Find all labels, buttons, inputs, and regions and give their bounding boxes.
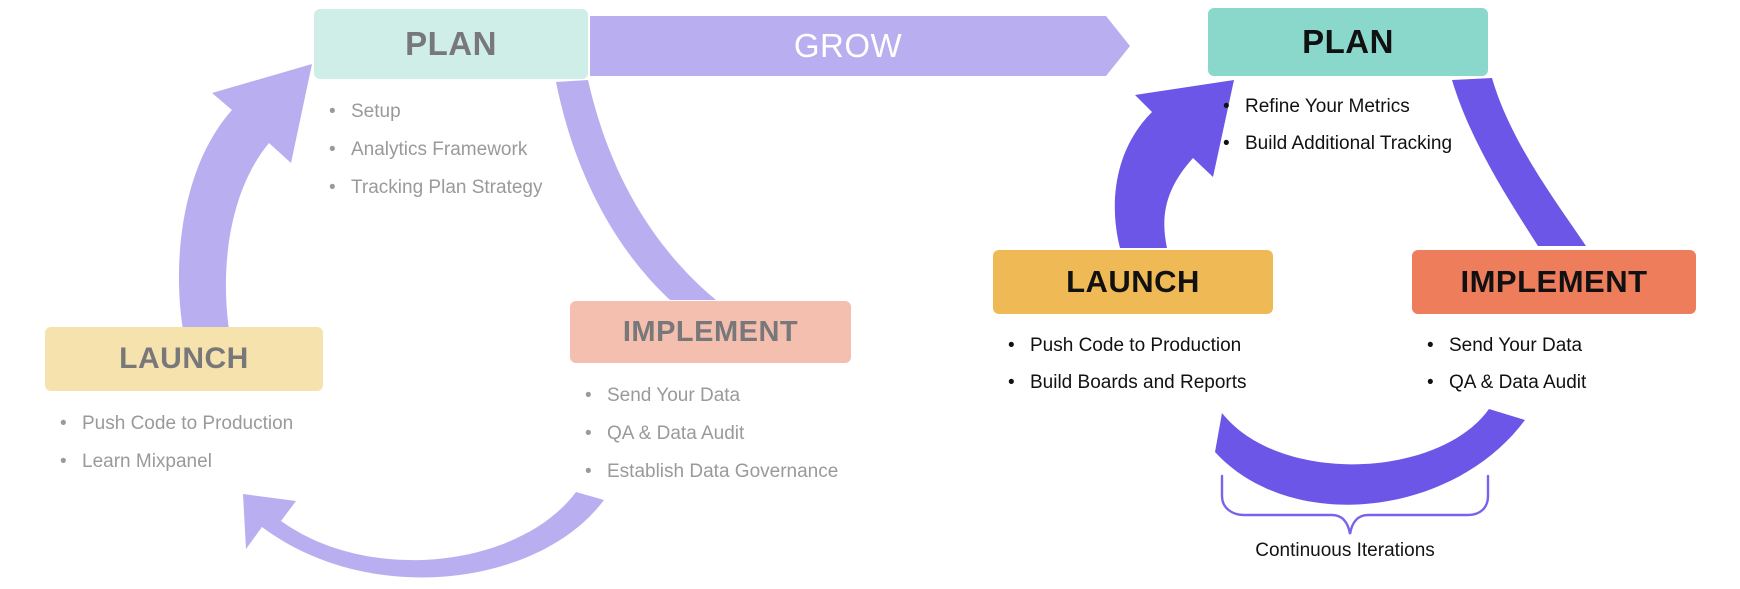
- list-item: • Tracking Plan Strategy: [329, 177, 588, 199]
- bullet-text: Send Your Data: [607, 385, 851, 407]
- list-item: • Push Code to Production: [60, 413, 323, 435]
- bullet-icon: •: [1427, 335, 1449, 357]
- bullet-text: Build Boards and Reports: [1030, 372, 1273, 394]
- bullet-text: Send Your Data: [1449, 335, 1696, 357]
- list-item: • Setup: [329, 101, 588, 123]
- bullet-icon: •: [585, 423, 607, 445]
- node-plan-left-title: PLAN: [314, 9, 588, 79]
- bullet-icon: •: [1008, 335, 1030, 357]
- list-item: • Push Code to Production: [1008, 335, 1273, 357]
- node-implement-right-title: IMPLEMENT: [1412, 250, 1696, 314]
- node-launch-right-title: LAUNCH: [993, 250, 1273, 314]
- node-launch-left-bullets: • Push Code to Production • Learn Mixpan…: [60, 413, 323, 473]
- bullet-text: QA & Data Audit: [607, 423, 851, 445]
- node-implement-left-bullets: • Send Your Data • QA & Data Audit • Est…: [585, 385, 851, 483]
- node-plan-right[interactable]: PLAN • Refine Your Metrics • Build Addit…: [1208, 8, 1488, 170]
- bullet-icon: •: [329, 177, 351, 199]
- list-item: • QA & Data Audit: [585, 423, 851, 445]
- bullet-text: QA & Data Audit: [1449, 372, 1696, 394]
- node-launch-left[interactable]: LAUNCH • Push Code to Production • Learn…: [45, 327, 323, 489]
- node-implement-right-bullets: • Send Your Data • QA & Data Audit: [1427, 335, 1696, 394]
- list-item: • QA & Data Audit: [1427, 372, 1696, 394]
- node-launch-right[interactable]: LAUNCH • Push Code to Production • Build…: [993, 250, 1273, 409]
- bullet-text: Analytics Framework: [351, 139, 588, 161]
- list-item: • Send Your Data: [585, 385, 851, 407]
- node-launch-left-title: LAUNCH: [45, 327, 323, 391]
- list-item: • Build Additional Tracking: [1223, 133, 1488, 155]
- bullet-icon: •: [329, 101, 351, 123]
- continuous-iterations-brace: [1222, 476, 1488, 534]
- arrow-launch-to-plan-left: [179, 64, 312, 330]
- bullet-icon: •: [1008, 372, 1030, 394]
- bullet-text: Tracking Plan Strategy: [351, 177, 588, 199]
- node-plan-left[interactable]: PLAN • Setup • Analytics Framework • Tra…: [314, 9, 588, 215]
- node-launch-right-bullets: • Push Code to Production • Build Boards…: [1008, 335, 1273, 394]
- node-implement-left-title: IMPLEMENT: [570, 301, 851, 363]
- bullet-icon: •: [1223, 96, 1245, 118]
- continuous-iterations-label: Continuous Iterations: [1160, 540, 1530, 562]
- bullet-text: Build Additional Tracking: [1245, 133, 1488, 155]
- list-item: • Learn Mixpanel: [60, 451, 323, 473]
- bullet-icon: •: [585, 461, 607, 483]
- diagram-canvas: GROW PLAN • Setup • Analytics Framework …: [0, 0, 1740, 589]
- grow-banner-label: GROW: [590, 16, 1106, 76]
- node-plan-right-bullets: • Refine Your Metrics • Build Additional…: [1223, 96, 1488, 155]
- bullet-text: Push Code to Production: [1030, 335, 1273, 357]
- arrow-implement-to-launch-right: [1215, 409, 1525, 505]
- list-item: • Build Boards and Reports: [1008, 372, 1273, 394]
- bullet-icon: •: [60, 413, 82, 435]
- bullet-icon: •: [60, 451, 82, 473]
- list-item: • Analytics Framework: [329, 139, 588, 161]
- bullet-icon: •: [329, 139, 351, 161]
- bullet-icon: •: [1223, 133, 1245, 155]
- bullet-icon: •: [585, 385, 607, 407]
- node-implement-right[interactable]: IMPLEMENT • Send Your Data • QA & Data A…: [1412, 250, 1696, 409]
- list-item: • Send Your Data: [1427, 335, 1696, 357]
- node-implement-left[interactable]: IMPLEMENT • Send Your Data • QA & Data A…: [570, 301, 851, 499]
- node-plan-right-title: PLAN: [1208, 8, 1488, 76]
- node-plan-left-bullets: • Setup • Analytics Framework • Tracking…: [329, 101, 588, 199]
- list-item: • Refine Your Metrics: [1223, 96, 1488, 118]
- bullet-text: Establish Data Governance: [607, 461, 851, 483]
- arrow-implement-to-launch-left: [243, 492, 604, 577]
- bullet-text: Push Code to Production: [82, 413, 323, 435]
- bullet-text: Learn Mixpanel: [82, 451, 323, 473]
- bullet-text: Refine Your Metrics: [1245, 96, 1488, 118]
- bullet-icon: •: [1427, 372, 1449, 394]
- list-item: • Establish Data Governance: [585, 461, 851, 483]
- bullet-text: Setup: [351, 101, 588, 123]
